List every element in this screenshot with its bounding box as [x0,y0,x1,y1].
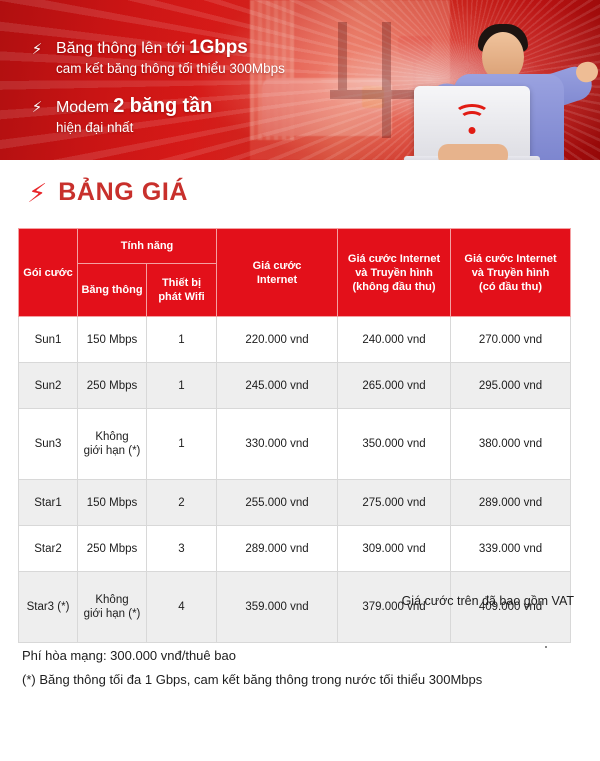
price-table: Gói cước Tính năng Giá cước Internet Giá… [18,228,571,643]
tv-no-receiver-price-cell-line: 240.000 vnd [340,333,448,347]
footer-notes: Phí hòa mạng: 300.000 vnđ/thuê bao (*) B… [22,644,482,692]
man-with-laptop-photo [420,18,600,160]
bandwidth-cell-line: Không [80,593,144,607]
bandwidth-cell-line: 150 Mbps [80,333,144,347]
wifi-device-count-cell: 1 [147,363,217,409]
wifi-device-count-cell: 3 [147,526,217,572]
header-row-1: Gói cước Tính năng Giá cước Internet Giá… [19,229,571,264]
column-header-tv-no-receiver: Giá cước Internet và Truyền hình (không … [338,229,451,317]
banner-bullet-1-line1: Băng thông lên tới 1Gbps [56,38,285,59]
number-four-graphic [330,22,414,138]
tv-no-receiver-price-cell: 350.000 vnd [338,409,451,480]
wifi-device-count-cell: 2 [147,480,217,526]
package-cell-line: Star2 [21,542,75,556]
tv-no-receiver-price-cell: 275.000 vnd [338,480,451,526]
package-cell: Sun1 [19,317,78,363]
column-header-wifi-device: Thiết bị phát Wifi [147,264,217,317]
banner-bullet-1-highlight: 1Gbps [189,37,248,58]
bandwidth-cell-line: 250 Mbps [80,542,144,556]
tv-no-receiver-price-cell: 265.000 vnd [338,363,451,409]
column-header-bandwidth: Băng thông [78,264,147,317]
internet-price-cell: 330.000 vnd [217,409,338,480]
tv-no-receiver-price-cell-line: 265.000 vnd [340,379,448,393]
wifi-device-count-cell: 4 [147,572,217,643]
tv-with-receiver-price-cell: 270.000 vnd [451,317,571,363]
lightning-bolt-icon: ⚡ [30,100,44,115]
bandwidth-cell-line: Không [80,430,144,444]
wifi-device-count-cell-line: 2 [149,496,214,510]
banner-bullet-list: ⚡ Băng thông lên tới 1Gbps cam kết băng … [30,38,330,155]
bandwidth-cell: 250 Mbps [78,363,147,409]
number-four-stroke [338,22,347,98]
column-header-tv-with-receiver-line3: (có đầu thu) [453,280,568,294]
column-header-wifi-device-line2: phát Wifi [149,290,214,304]
package-cell: Sun2 [19,363,78,409]
package-cell-line: Star3 (*) [21,600,75,614]
page-title: ⚡ BẢNG GIÁ [28,178,188,207]
internet-price-cell: 220.000 vnd [217,317,338,363]
column-header-internet-price: Giá cước Internet [217,229,338,317]
internet-price-cell-line: 289.000 vnd [219,542,335,556]
column-header-features-group: Tính năng [78,229,217,264]
bandwidth-cell-line: giới hạn (*) [80,607,144,621]
banner-bullet-2-line2: hiện đại nhất [56,118,212,137]
tv-with-receiver-price-cell: 295.000 vnd [451,363,571,409]
supporting-hand-graphic [438,144,508,160]
internet-price-cell-line: 255.000 vnd [219,496,335,510]
tv-no-receiver-price-cell-line: 309.000 vnd [340,542,448,556]
banner-bullet-2: ⚡ Modem 2 băng tần hiện đại nhất [30,96,330,137]
wifi-device-count-cell-line: 3 [149,542,214,556]
tv-no-receiver-price-cell: 309.000 vnd [338,526,451,572]
tv-with-receiver-price-cell: 289.000 vnd [451,480,571,526]
internet-price-cell: 245.000 vnd [217,363,338,409]
internet-price-cell-line: 359.000 vnd [219,600,335,614]
wifi-icon [454,104,490,134]
banner-bullet-2-line1: Modem 2 băng tần [56,96,212,118]
internet-price-cell: 359.000 vnd [217,572,338,643]
package-cell: Star1 [19,480,78,526]
bandwidth-cell: Khônggiới hạn (*) [78,409,147,480]
internet-price-cell: 289.000 vnd [217,526,338,572]
tv-with-receiver-price-cell-line: 289.000 vnd [453,496,568,510]
table-row: Star2250 Mbps3289.000 vnd309.000 vnd339.… [19,526,571,572]
internet-price-cell-line: 245.000 vnd [219,379,335,393]
tv-with-receiver-price-cell: 380.000 vnd [451,409,571,480]
package-cell-line: Sun1 [21,333,75,347]
lightning-bolt-icon: ⚡ [30,42,44,57]
column-header-tv-no-receiver-line1: Giá cước Internet [340,252,448,266]
tv-no-receiver-price-cell: 240.000 vnd [338,317,451,363]
banner-bullet-1-prefix: Băng thông lên tới [56,40,189,57]
package-cell-line: Sun3 [21,437,75,451]
column-header-tv-with-receiver-line2: và Truyền hình [453,266,568,280]
package-cell: Star2 [19,526,78,572]
wifi-device-count-cell-line: 1 [149,437,214,451]
bandwidth-cell-line: 150 Mbps [80,496,144,510]
tv-with-receiver-price-cell-line: 295.000 vnd [453,379,568,393]
wifi-device-count-cell-line: 4 [149,600,214,614]
internet-price-cell: 255.000 vnd [217,480,338,526]
column-header-internet-price-line1: Giá cước [219,259,335,273]
tv-no-receiver-price-cell-line: 275.000 vnd [340,496,448,510]
banner-bullet-2-highlight: 2 băng tần [113,95,212,117]
tv-with-receiver-price-cell: 339.000 vnd [451,526,571,572]
tv-no-receiver-price-cell-line: 350.000 vnd [340,437,448,451]
bandwidth-cell-line: giới hạn (*) [80,444,144,458]
bandwidth-cell: 150 Mbps [78,317,147,363]
column-header-tv-with-receiver-line1: Giá cước Internet [453,252,568,266]
bandwidth-cell: 250 Mbps [78,526,147,572]
package-cell-line: Sun2 [21,379,75,393]
stray-dot-mark [545,646,547,648]
table-row: Sun2250 Mbps1245.000 vnd265.000 vnd295.0… [19,363,571,409]
wifi-device-count-cell: 1 [147,317,217,363]
column-header-wifi-device-line1: Thiết bị [149,276,214,290]
wifi-device-count-cell-line: 1 [149,333,214,347]
banner-bullet-1-line2: cam kết băng thông tối thiểu 300Mbps [56,59,285,78]
promo-banner: ⚡ Băng thông lên tới 1Gbps cam kết băng … [0,0,600,160]
column-header-tv-with-receiver: Giá cước Internet và Truyền hình (có đầu… [451,229,571,317]
wifi-device-count-cell: 1 [147,409,217,480]
banner-bullet-1: ⚡ Băng thông lên tới 1Gbps cam kết băng … [30,38,330,78]
bandwidth-cell: Khônggiới hạn (*) [78,572,147,643]
bandwidth-cell: 150 Mbps [78,480,147,526]
column-header-internet-price-line2: Internet [219,273,335,287]
price-table-header: Gói cước Tính năng Giá cước Internet Giá… [19,229,571,317]
tv-with-receiver-price-cell-line: 339.000 vnd [453,542,568,556]
table-row: Star1150 Mbps2255.000 vnd275.000 vnd289.… [19,480,571,526]
page-title-label: BẢNG GIÁ [58,178,188,207]
table-row: Sun1150 Mbps1220.000 vnd240.000 vnd270.0… [19,317,571,363]
internet-price-cell-line: 220.000 vnd [219,333,335,347]
footer-note-installation-fee: Phí hòa mạng: 300.000 vnđ/thuê bao [22,644,482,668]
internet-price-cell-line: 330.000 vnd [219,437,335,451]
tv-with-receiver-price-cell-line: 380.000 vnd [453,437,568,451]
table-row: Sun3Khônggiới hạn (*)1330.000 vnd350.000… [19,409,571,480]
tv-with-receiver-price-cell-line: 270.000 vnd [453,333,568,347]
footer-note-bandwidth: (*) Băng thông tối đa 1 Gbps, cam kết bă… [22,668,482,692]
bandwidth-cell-line: 250 Mbps [80,379,144,393]
column-header-tv-no-receiver-line2: và Truyền hình [340,266,448,280]
vat-note: Giá cước trên đã bao gồm VAT [402,594,574,608]
wifi-device-count-cell-line: 1 [149,379,214,393]
package-cell: Sun3 [19,409,78,480]
package-cell-line: Star1 [21,496,75,510]
banner-bullet-2-prefix: Modem [56,99,113,116]
lightning-bolt-icon: ⚡ [27,180,48,206]
package-cell: Star3 (*) [19,572,78,643]
column-header-package: Gói cước [19,229,78,317]
column-header-tv-no-receiver-line3: (không đầu thu) [340,280,448,294]
